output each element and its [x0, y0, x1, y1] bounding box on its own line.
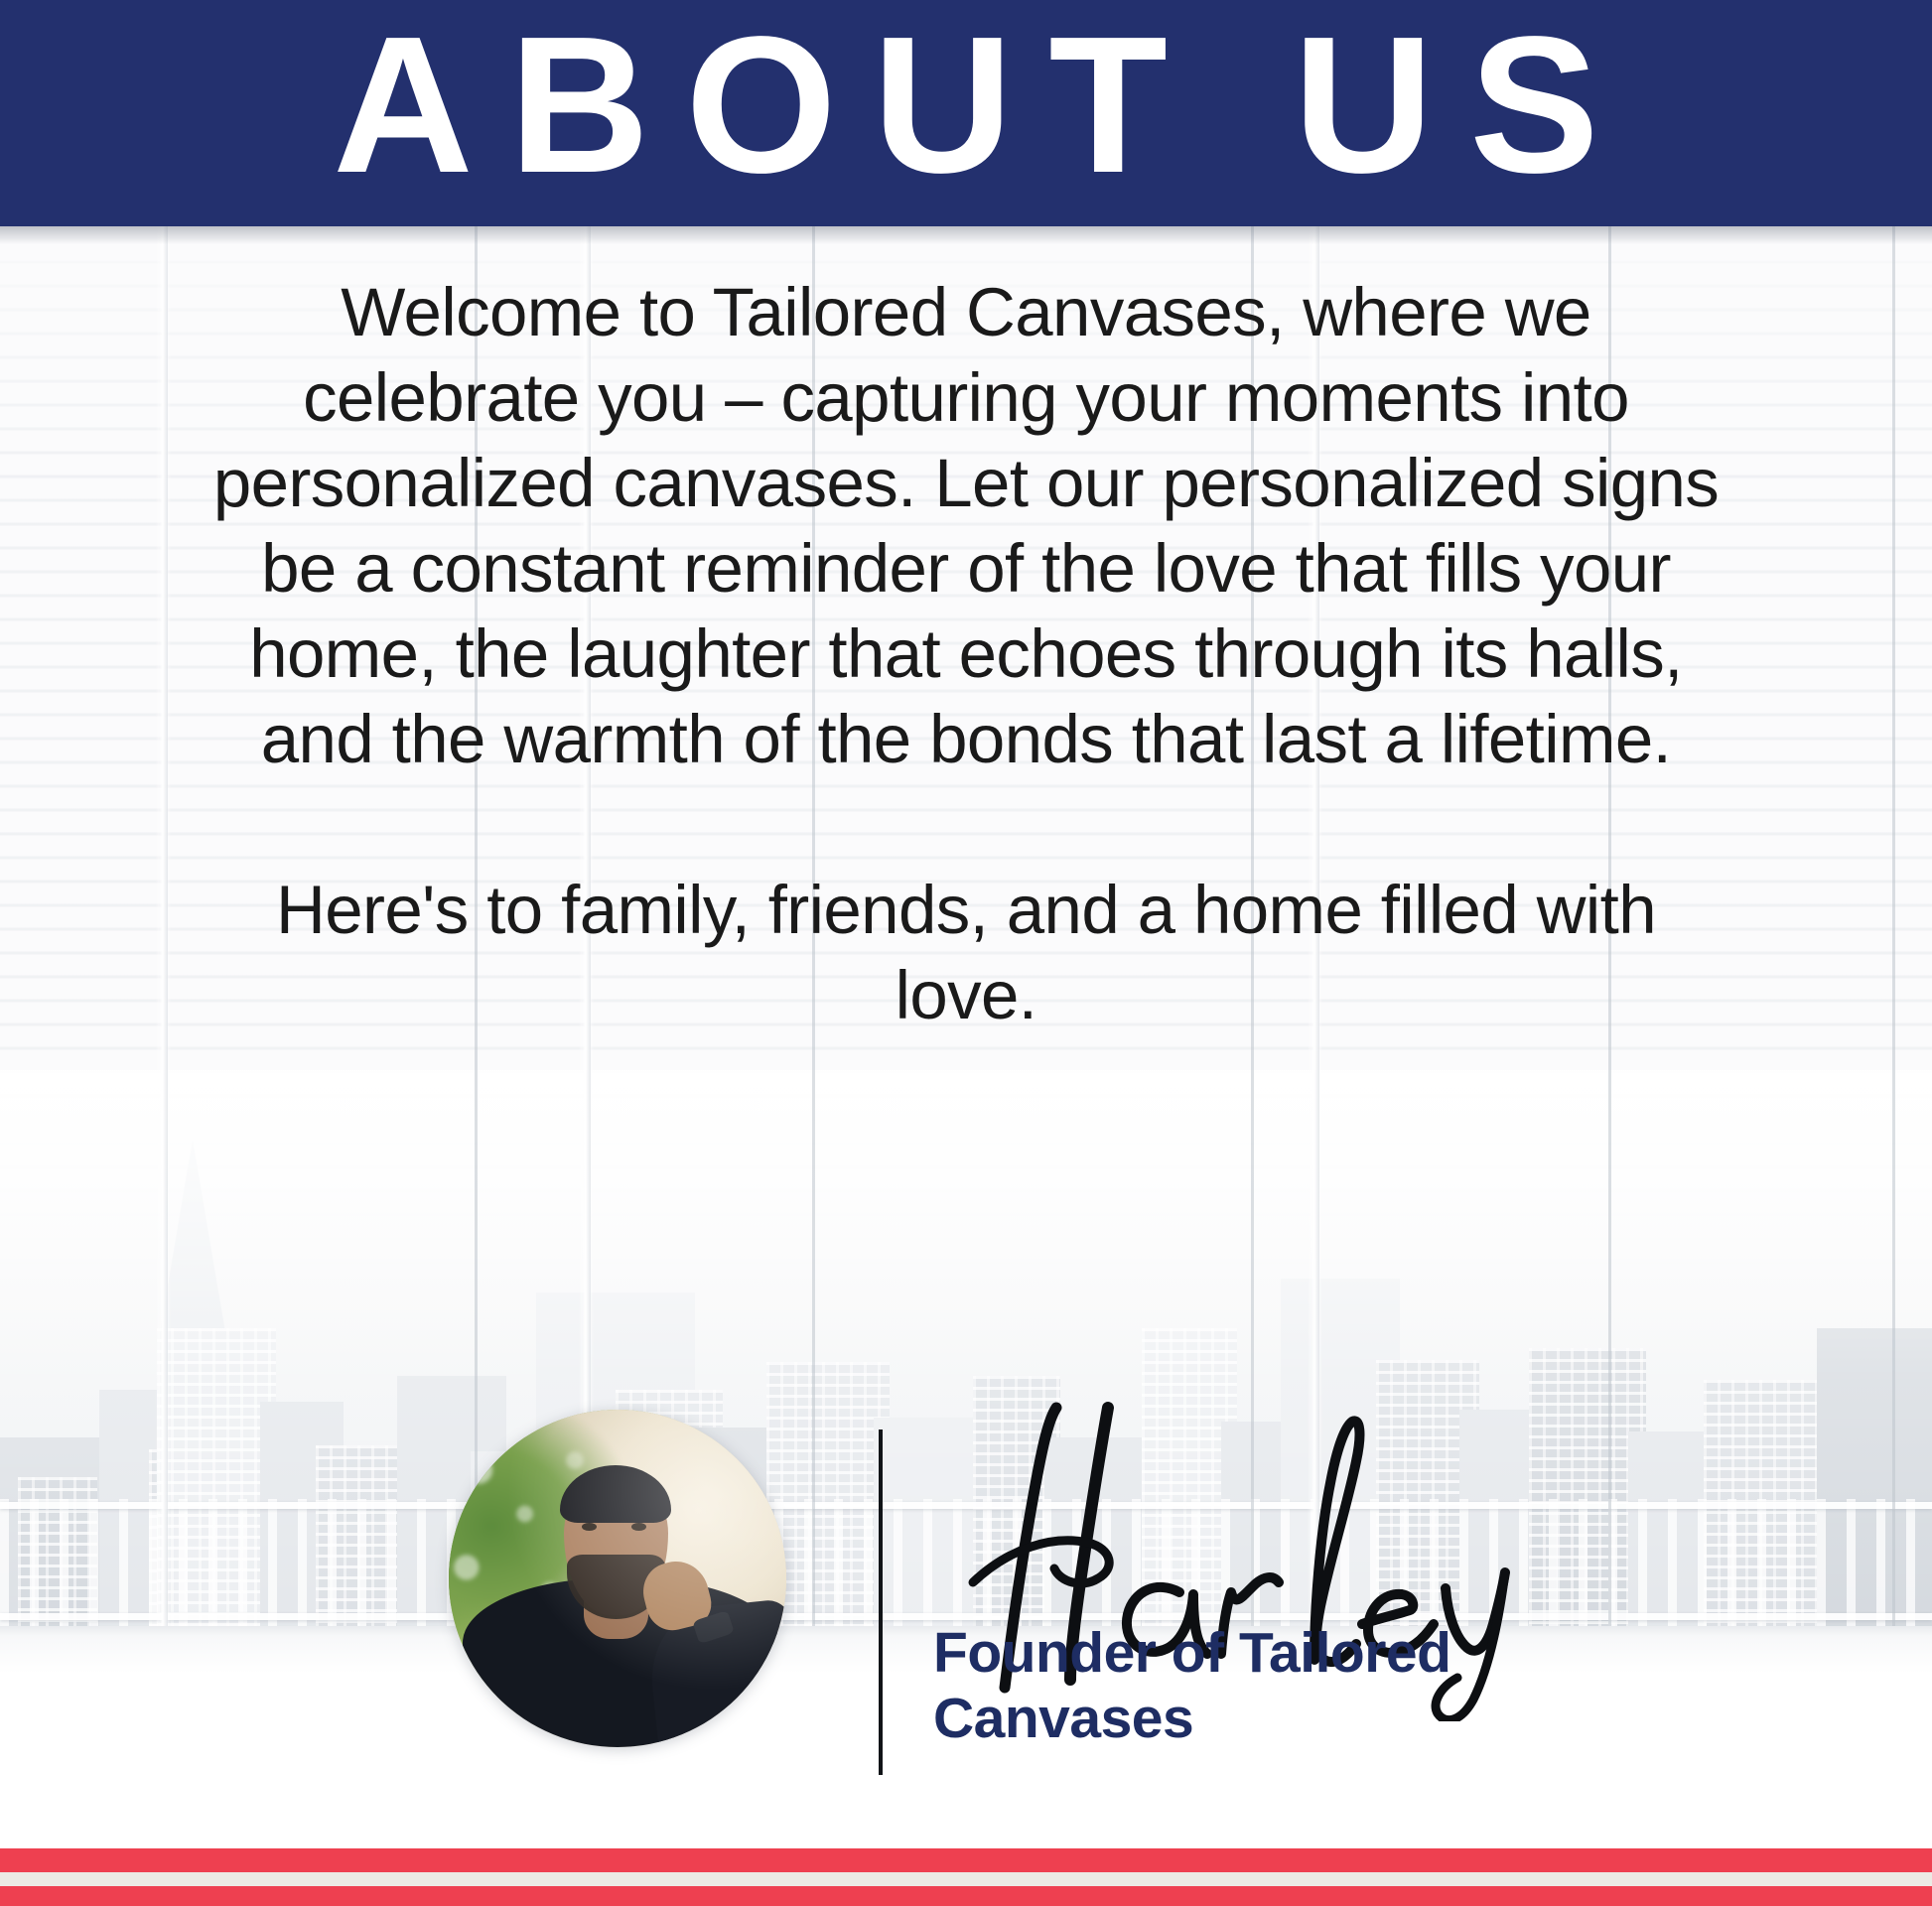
about-us-poster: ABOUT US Welcome to Tailored Canvases, w… [0, 0, 1932, 1906]
avatar-highlight [449, 1410, 786, 1747]
header-bar: ABOUT US [0, 0, 1932, 226]
footer-stripe-upper [0, 1848, 1932, 1872]
avatar [449, 1410, 786, 1747]
about-us-body: Welcome to Tailored Canvases, where we c… [208, 270, 1724, 1038]
founder-block [0, 1390, 1932, 1827]
footer-stripe-gap [0, 1872, 1932, 1886]
founder-role-line-2: Canvases [933, 1686, 1688, 1751]
founder-role-line-1: Founder of Tailored [933, 1620, 1688, 1686]
founder-role: Founder of Tailored Canvases [933, 1620, 1688, 1751]
about-paragraph-2: Here's to family, friends, and a home fi… [208, 868, 1724, 1038]
footer-stripe-lower [0, 1886, 1932, 1906]
vertical-divider [879, 1429, 883, 1775]
page-title: ABOUT US [0, 6, 1932, 204]
about-paragraph-1: Welcome to Tailored Canvases, where we c… [208, 270, 1724, 782]
